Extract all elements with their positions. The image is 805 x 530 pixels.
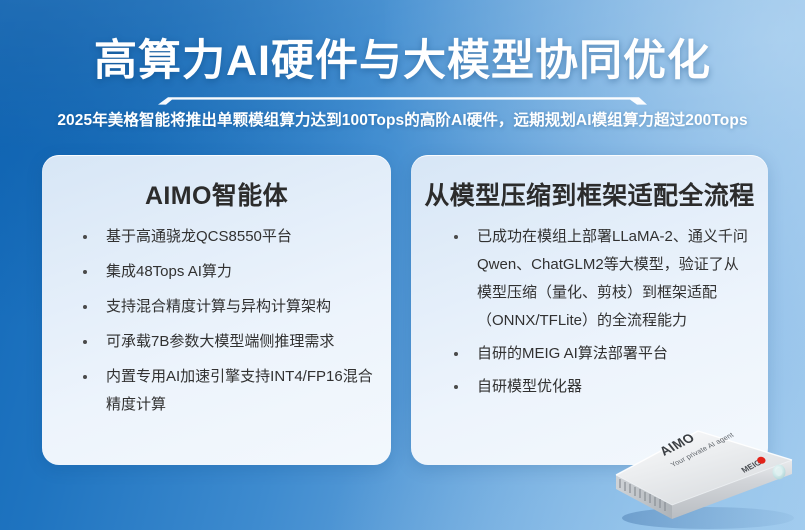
list-item: 可承载7B参数大模型端侧推理需求 xyxy=(62,328,379,356)
bullet-dot-icon xyxy=(454,235,458,239)
list-item-label: 支持混合精度计算与异构计算架构 xyxy=(106,298,331,315)
bullet-dot-icon xyxy=(83,270,87,274)
list-item-label: 内置专用AI加速引擎支持INT4/FP16混合精度计算 xyxy=(106,368,373,413)
slide-title: 高算力AI硬件与大模型协同优化 xyxy=(0,38,805,84)
bullet-list: 已成功在模组上部署LLaMA-2、通义千问Qwen、ChatGLM2等大模型，验… xyxy=(433,223,750,406)
bullet-dot-icon xyxy=(454,352,458,356)
slide-subtitle: 2025年美格智能将推出单颗模组算力达到100Tops的高阶AI硬件，远期规划A… xyxy=(0,108,805,130)
title-divider xyxy=(158,96,647,105)
bullet-list: 基于高通骁龙QCS8550平台 集成48Tops AI算力 支持混合精度计算与异… xyxy=(62,223,379,426)
bullet-dot-icon xyxy=(83,235,87,239)
device-shadow xyxy=(622,507,794,529)
list-item: 自研模型优化器 xyxy=(433,373,750,401)
card-title: AIMO智能体 xyxy=(52,176,381,212)
list-item-label: 基于高通骁龙QCS8550平台 xyxy=(106,228,292,245)
list-item: 内置专用AI加速引擎支持INT4/FP16混合精度计算 xyxy=(62,363,379,419)
aimo-device-image: AIMO Your private AI agent MEIG xyxy=(612,398,805,530)
bullet-dot-icon xyxy=(83,375,87,379)
list-item: 集成48Tops AI算力 xyxy=(62,258,379,286)
bullet-dot-icon xyxy=(83,340,87,344)
list-item: 基于高通骁龙QCS8550平台 xyxy=(62,223,379,251)
list-item-label: 集成48Tops AI算力 xyxy=(106,263,232,280)
list-item-label: 可承载7B参数大模型端侧推理需求 xyxy=(106,333,334,350)
list-item: 自研的MEIG AI算法部署平台 xyxy=(433,340,750,368)
list-item-label: 自研模型优化器 xyxy=(477,378,582,395)
card-aimo-agent: AIMO智能体 基于高通骁龙QCS8550平台 集成48Tops AI算力 支持… xyxy=(42,155,391,465)
list-item: 已成功在模组上部署LLaMA-2、通义千问Qwen、ChatGLM2等大模型，验… xyxy=(433,223,750,335)
list-item-label: 已成功在模组上部署LLaMA-2、通义千问Qwen、ChatGLM2等大模型，验… xyxy=(477,228,748,329)
list-item-label: 自研的MEIG AI算法部署平台 xyxy=(477,345,668,362)
bullet-dot-icon xyxy=(83,305,87,309)
bullet-dot-icon xyxy=(454,385,458,389)
slide-canvas: 高算力AI硬件与大模型协同优化 2025年美格智能将推出单颗模组算力达到100T… xyxy=(0,0,805,530)
card-title: 从模型压缩到框架适配全流程 xyxy=(421,176,758,212)
list-item: 支持混合精度计算与异构计算架构 xyxy=(62,293,379,321)
